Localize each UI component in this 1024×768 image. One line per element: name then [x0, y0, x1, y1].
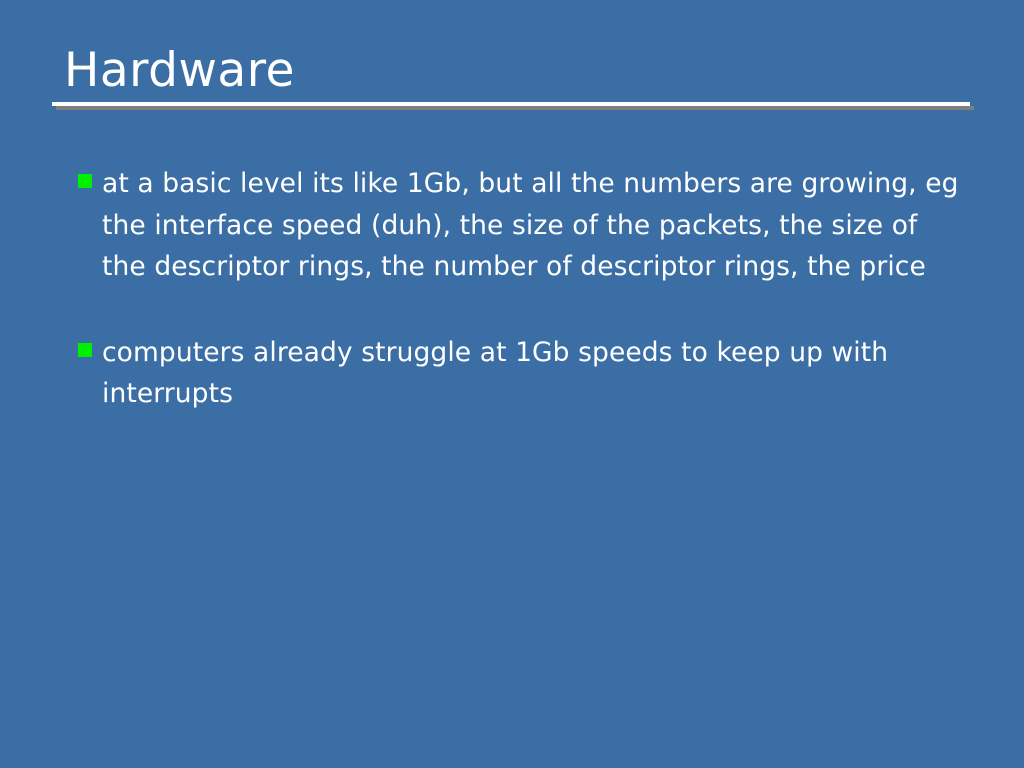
page-title: Hardware — [52, 42, 972, 100]
title-divider — [52, 102, 970, 110]
list-item-text: at a basic level its like 1Gb, but all t… — [102, 163, 963, 288]
title-divider-shadow — [56, 106, 974, 110]
list-item: computers already struggle at 1Gb speeds… — [78, 332, 963, 415]
slide-title-block: Hardware — [52, 42, 972, 110]
green-square-bullet-icon — [78, 174, 92, 188]
slide-body: at a basic level its like 1Gb, but all t… — [78, 163, 963, 415]
title-divider-line — [52, 102, 970, 106]
presentation-slide: Hardware at a basic level its like 1Gb, … — [0, 0, 1024, 768]
list-item: at a basic level its like 1Gb, but all t… — [78, 163, 963, 288]
green-square-bullet-icon — [78, 343, 92, 357]
list-item-text: computers already struggle at 1Gb speeds… — [102, 332, 963, 415]
